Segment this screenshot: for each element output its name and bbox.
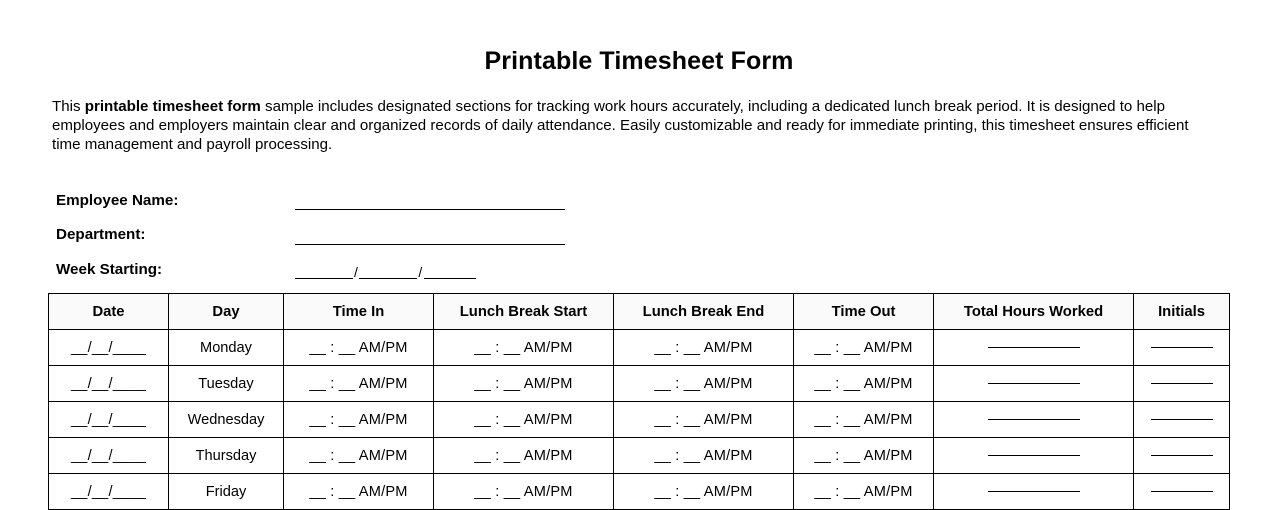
cell-date[interactable]: __/__/____ <box>49 366 169 402</box>
cell-initials[interactable] <box>1134 330 1230 366</box>
table-row: __/__/____ Wednesday __ : __ AM/PM __ : … <box>49 402 1230 438</box>
cell-total-hours[interactable] <box>934 474 1134 510</box>
cell-time-in[interactable]: __ : __ AM/PM <box>284 438 434 474</box>
intro-paragraph: This printable timesheet form sample inc… <box>0 76 1278 154</box>
initials-blank[interactable] <box>1151 455 1213 456</box>
cell-initials[interactable] <box>1134 366 1230 402</box>
intro-prefix: This <box>52 98 85 115</box>
column-header-time-in: Time In <box>284 294 434 330</box>
cell-lunch-start[interactable]: __ : __ AM/PM <box>434 474 614 510</box>
week-starting-year[interactable] <box>424 264 476 279</box>
cell-time-out[interactable]: __ : __ AM/PM <box>794 330 934 366</box>
week-starting-day[interactable] <box>359 264 417 279</box>
total-hours-blank[interactable] <box>988 383 1080 384</box>
cell-initials[interactable] <box>1134 438 1230 474</box>
table-row: __/__/____ Tuesday __ : __ AM/PM __ : __… <box>49 366 1230 402</box>
cell-total-hours[interactable] <box>934 438 1134 474</box>
cell-lunch-end[interactable]: __ : __ AM/PM <box>614 438 794 474</box>
department-label: Department: <box>56 227 295 244</box>
week-starting-input[interactable]: / / <box>295 264 476 279</box>
cell-lunch-end[interactable]: __ : __ AM/PM <box>614 402 794 438</box>
cell-initials[interactable] <box>1134 474 1230 510</box>
initials-blank[interactable] <box>1151 419 1213 420</box>
cell-day: Tuesday <box>169 366 284 402</box>
cell-date[interactable]: __/__/____ <box>49 438 169 474</box>
field-employee-name: Employee Name: <box>0 176 1278 211</box>
total-hours-blank[interactable] <box>988 455 1080 456</box>
cell-total-hours[interactable] <box>934 330 1134 366</box>
total-hours-blank[interactable] <box>988 419 1080 420</box>
table-row: __/__/____ Thursday __ : __ AM/PM __ : _… <box>49 438 1230 474</box>
cell-lunch-end[interactable]: __ : __ AM/PM <box>614 366 794 402</box>
cell-initials[interactable] <box>1134 402 1230 438</box>
cell-lunch-start[interactable]: __ : __ AM/PM <box>434 366 614 402</box>
table-row: __/__/____ Friday __ : __ AM/PM __ : __ … <box>49 474 1230 510</box>
cell-time-out[interactable]: __ : __ AM/PM <box>794 366 934 402</box>
timesheet-table-wrapper: Date Day Time In Lunch Break Start Lunch… <box>48 293 1229 510</box>
cell-day: Wednesday <box>169 402 284 438</box>
cell-lunch-start[interactable]: __ : __ AM/PM <box>434 330 614 366</box>
initials-blank[interactable] <box>1151 491 1213 492</box>
week-starting-month[interactable] <box>295 264 353 279</box>
meta-fields: Employee Name: Department: Week Starting… <box>0 154 1278 280</box>
column-header-day: Day <box>169 294 284 330</box>
cell-date[interactable]: __/__/____ <box>49 474 169 510</box>
cell-time-out[interactable]: __ : __ AM/PM <box>794 438 934 474</box>
column-header-lunch-break-end: Lunch Break End <box>614 294 794 330</box>
cell-day: Thursday <box>169 438 284 474</box>
column-header-lunch-break-start: Lunch Break Start <box>434 294 614 330</box>
cell-time-in[interactable]: __ : __ AM/PM <box>284 402 434 438</box>
timesheet-table: Date Day Time In Lunch Break Start Lunch… <box>48 293 1230 510</box>
cell-date[interactable]: __/__/____ <box>49 330 169 366</box>
column-header-date: Date <box>49 294 169 330</box>
department-input[interactable] <box>295 244 565 245</box>
cell-total-hours[interactable] <box>934 366 1134 402</box>
initials-blank[interactable] <box>1151 383 1213 384</box>
column-header-time-out: Time Out <box>794 294 934 330</box>
intro-bold-phrase: printable timesheet form <box>85 98 261 115</box>
cell-time-out[interactable]: __ : __ AM/PM <box>794 474 934 510</box>
employee-name-label: Employee Name: <box>56 193 295 210</box>
field-week-starting: Week Starting: / / <box>0 245 1278 280</box>
cell-time-in[interactable]: __ : __ AM/PM <box>284 366 434 402</box>
initials-blank[interactable] <box>1151 347 1213 348</box>
page-title: Printable Timesheet Form <box>0 0 1278 76</box>
field-department: Department: <box>0 210 1278 245</box>
cell-lunch-end[interactable]: __ : __ AM/PM <box>614 330 794 366</box>
cell-day: Monday <box>169 330 284 366</box>
timesheet-document: Printable Timesheet Form This printable … <box>0 0 1278 501</box>
employee-name-input[interactable] <box>295 209 565 210</box>
table-row: __/__/____ Monday __ : __ AM/PM __ : __ … <box>49 330 1230 366</box>
week-starting-label: Week Starting: <box>56 262 295 279</box>
column-header-initials: Initials <box>1134 294 1230 330</box>
cell-date[interactable]: __/__/____ <box>49 402 169 438</box>
cell-time-in[interactable]: __ : __ AM/PM <box>284 330 434 366</box>
column-header-total-hours: Total Hours Worked <box>934 294 1134 330</box>
table-header-row: Date Day Time In Lunch Break Start Lunch… <box>49 294 1230 330</box>
cell-lunch-start[interactable]: __ : __ AM/PM <box>434 402 614 438</box>
total-hours-blank[interactable] <box>988 491 1080 492</box>
cell-lunch-end[interactable]: __ : __ AM/PM <box>614 474 794 510</box>
cell-total-hours[interactable] <box>934 402 1134 438</box>
cell-lunch-start[interactable]: __ : __ AM/PM <box>434 438 614 474</box>
total-hours-blank[interactable] <box>988 347 1080 348</box>
cell-time-in[interactable]: __ : __ AM/PM <box>284 474 434 510</box>
cell-time-out[interactable]: __ : __ AM/PM <box>794 402 934 438</box>
cell-day: Friday <box>169 474 284 510</box>
